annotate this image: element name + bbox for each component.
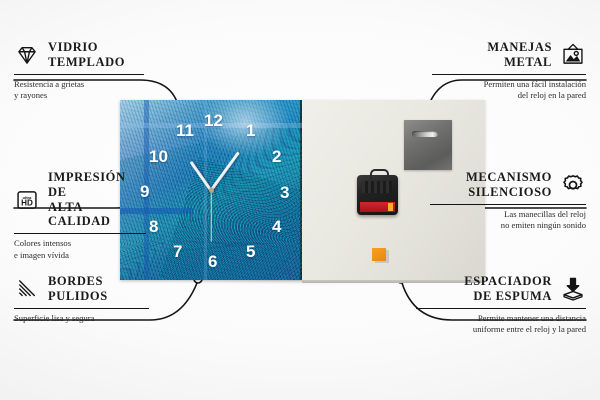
callout-desc-line1: Las manecillas del reloj — [504, 209, 586, 219]
callout-desc-line2: y rayones — [14, 90, 47, 100]
callout-title-line2: SILENCIOSO — [468, 185, 552, 199]
mechanism-hook — [370, 169, 389, 180]
callout-vidrio-templado[interactable]: VIDRIO TEMPLADO Resistencia a grietas y … — [14, 40, 144, 102]
clock-numeral-10: 10 — [149, 148, 168, 165]
callout-description: Las manecillas del reloj no emiten ningú… — [430, 209, 586, 232]
callout-head: BORDES PULIDOS — [14, 274, 149, 304]
clock-numeral-5: 5 — [246, 243, 255, 260]
callout-divider — [14, 74, 144, 75]
callout-desc-line1: Permiten una fácil instalación — [484, 79, 586, 89]
callout-divider — [432, 74, 586, 75]
clock-numeral-1: 1 — [246, 122, 255, 139]
foam-spacer-icon — [560, 276, 586, 302]
callout-title-line1: IMPRESIÓN DE — [48, 170, 126, 199]
callout-head: VIDRIO TEMPLADO — [14, 40, 144, 70]
callout-head: ESPACIADOR DE ESPUMA — [416, 274, 586, 304]
callout-description: Permiten una fácil instalación del reloj… — [432, 79, 586, 102]
callout-divider — [430, 204, 586, 205]
gear-icon — [560, 172, 586, 198]
clock-numeral-4: 4 — [272, 218, 281, 235]
hanger-slot — [412, 131, 438, 137]
mechanism-battery-label — [360, 202, 395, 212]
callout-desc-line1: Resistencia a grietas — [14, 79, 84, 89]
clock-numeral-7: 7 — [173, 243, 182, 260]
callout-description: Resistencia a grietas y rayones — [14, 79, 144, 102]
clock-front-face: 12 1 2 3 4 5 6 7 8 9 10 11 — [120, 100, 302, 280]
callout-title-line1: VIDRIO — [48, 40, 98, 54]
clock-center-hub — [209, 188, 214, 193]
picture-frame-icon — [560, 42, 586, 68]
callout-title-line1: ESPACIADOR — [464, 274, 552, 288]
callout-desc-line2: no emiten ningún sonido — [501, 220, 586, 230]
callout-description: Colores intensos e imagen vívida — [14, 238, 146, 261]
callout-desc-line1: Colores intensos — [14, 238, 71, 248]
callout-title: MECANISMO SILENCIOSO — [466, 170, 552, 200]
callout-title: IMPRESIÓN DE ALTA CALIDAD — [48, 170, 146, 229]
mechanism-vent — [362, 181, 392, 193]
callout-title-line1: BORDES — [48, 274, 103, 288]
clock-numeral-12: 12 — [204, 112, 223, 129]
callout-title: ESPACIADOR DE ESPUMA — [464, 274, 552, 304]
callout-title-line2: ALTA CALIDAD — [48, 200, 111, 229]
callout-title-line1: MECANISMO — [466, 170, 552, 184]
callout-title-line2: DE ESPUMA — [473, 289, 552, 303]
callout-impresion-alta-calidad[interactable]: ultra HD IMPRESIÓN DE ALTA CALIDAD Color… — [14, 170, 146, 262]
clock-numeral-2: 2 — [272, 148, 281, 165]
callout-bordes-pulidos[interactable]: BORDES PULIDOS Superficie lisa y segura — [14, 274, 149, 324]
ultra-hd-icon: ultra HD — [14, 187, 40, 213]
callout-title-line2: METAL — [504, 55, 552, 69]
callout-description: Permite mantener una distancia uniforme … — [416, 313, 586, 336]
clock-numeral-11: 11 — [176, 122, 194, 139]
callout-desc-line2: e imagen vívida — [14, 250, 69, 260]
callout-desc-line2: del reloj en la pared — [518, 90, 586, 100]
foam-spacer — [372, 248, 386, 261]
ultra-hd-icon-large-text: HD — [21, 198, 33, 207]
metal-hanger — [404, 120, 452, 170]
polished-edge-icon — [14, 276, 40, 302]
callout-title-line2: PULIDOS — [48, 289, 108, 303]
callout-title-line2: TEMPLADO — [48, 55, 125, 69]
callout-desc-line1: Superficie lisa y segura — [14, 313, 94, 323]
infographic-canvas: 12 1 2 3 4 5 6 7 8 9 10 11 — [0, 0, 600, 400]
callout-manejas-metal[interactable]: MANEJAS METAL Permiten una fácil instala… — [432, 40, 586, 102]
callout-espaciador-espuma[interactable]: ESPACIADOR DE ESPUMA Permite mantener un… — [416, 274, 586, 336]
quartz-mechanism — [357, 175, 398, 215]
callout-title-line1: MANEJAS — [487, 40, 552, 54]
callout-desc-line2: uniforme entre el reloj y la pared — [473, 324, 586, 334]
callout-title: VIDRIO TEMPLADO — [48, 40, 125, 70]
diamond-icon — [14, 42, 40, 68]
callout-title: BORDES PULIDOS — [48, 274, 108, 304]
clock-numeral-3: 3 — [280, 184, 289, 201]
callout-head: ultra HD IMPRESIÓN DE ALTA CALIDAD — [14, 170, 146, 229]
callout-divider — [14, 233, 146, 234]
clock-second-hand — [210, 190, 211, 242]
callout-head: MECANISMO SILENCIOSO — [430, 170, 586, 200]
callout-description: Superficie lisa y segura — [14, 313, 149, 325]
callout-divider — [14, 308, 149, 309]
callout-title: MANEJAS METAL — [487, 40, 552, 70]
callout-mecanismo-silencioso[interactable]: MECANISMO SILENCIOSO Las manecillas del … — [430, 170, 586, 232]
callout-desc-line1: Permite mantener una distancia — [478, 313, 586, 323]
clock-numeral-6: 6 — [208, 253, 217, 270]
callout-head: MANEJAS METAL — [432, 40, 586, 70]
callout-divider — [416, 308, 586, 309]
clock-numeral-8: 8 — [149, 218, 158, 235]
